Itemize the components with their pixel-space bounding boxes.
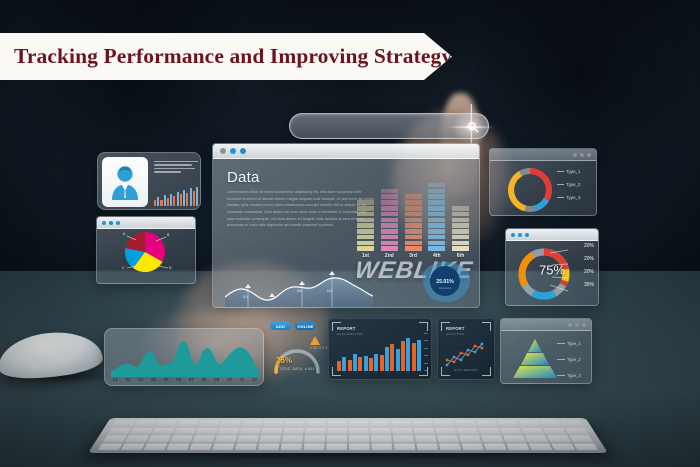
window-dot-2[interactable]: [575, 323, 579, 327]
pyramid-chart: [511, 337, 559, 379]
mini-bar: [196, 187, 198, 206]
legend-leader-line: [557, 184, 564, 185]
bar-4th: [428, 183, 445, 251]
wave-axis-label: 06: [176, 377, 181, 382]
wave-axis-label: 01: [113, 377, 118, 382]
legend-label: Type_2: [567, 357, 581, 362]
pie-label-c: C: [122, 266, 125, 270]
dark-bar: [390, 344, 394, 371]
wave-axis-label: 12: [252, 377, 257, 382]
legend-leader-line: [557, 343, 565, 344]
wave-axis-label: 08: [202, 377, 207, 382]
dark-bar: [337, 361, 341, 371]
body-paragraph: Lorem ipsum dolor sit amet consectetur a…: [227, 189, 375, 229]
add-pill-button[interactable]: ADD: [270, 322, 291, 330]
search-bar[interactable]: [289, 113, 489, 139]
dark-bar: [406, 338, 410, 371]
percent-label-0: 20%: [568, 243, 594, 249]
wave-chart-axis-labels: 010203040506070809101112: [113, 377, 257, 382]
dark-bar-chart-panel[interactable]: REPORT DATA ANALYSIS: [328, 318, 432, 380]
panel-titlebar: [501, 319, 591, 331]
segmented-bar-chart: [357, 185, 469, 251]
dark-bar: [374, 354, 378, 371]
dark-bar: [396, 349, 400, 371]
legend-leader-line: [557, 375, 565, 376]
main-panel-body: Data Lorem ipsum dolor sit amet consecte…: [213, 159, 479, 307]
mini-bar: [183, 190, 185, 206]
window-dot-2[interactable]: [580, 153, 584, 157]
window-dot-1[interactable]: [573, 153, 577, 157]
search-icon[interactable]: [467, 121, 479, 133]
wave-axis-label: 11: [240, 377, 245, 382]
mini-bar: [186, 193, 188, 206]
panel-titlebar: [490, 149, 596, 161]
left-pie-chart: A B C D: [114, 224, 178, 278]
gauge25-panel[interactable]: ADD ONLINE 1 00 0 0 2 25% TITLE, DATA, #…: [266, 320, 328, 382]
frame-bracket-tr: [482, 322, 491, 331]
bar-1st: [357, 200, 374, 251]
scatter-chart-panel[interactable]: REPORT ANALYTICS DATA REPORT: [437, 318, 495, 380]
percent-leader-lines: [550, 243, 570, 301]
panel-titlebar: [506, 229, 598, 241]
scatter-subtitle: ANALYTICS: [446, 332, 464, 336]
window-dot-2[interactable]: [518, 233, 522, 237]
mini-bar: [164, 195, 166, 206]
dark-bar: [353, 354, 357, 371]
percent-label-1: 20%: [568, 256, 594, 262]
window-dot-blue-1[interactable]: [230, 148, 236, 154]
title-banner: Tracking Performance and Improving Strat…: [0, 33, 452, 80]
wave-axis-label: 02: [126, 377, 131, 382]
dark-bar: [385, 347, 389, 371]
legend-leader-line: [557, 359, 565, 360]
pie-label-b: B: [167, 233, 170, 237]
panel-titlebar: [213, 144, 479, 159]
wave-axis-label: 09: [214, 377, 219, 382]
main-dashboard-panel[interactable]: Data Lorem ipsum dolor sit amet consecte…: [212, 143, 480, 308]
gauge-value: 25.01%: [436, 279, 454, 285]
legend-label: Type_1: [567, 341, 581, 346]
pie-label-d: D: [169, 266, 172, 270]
wave-axis-label: 04: [151, 377, 156, 382]
conversion-gauge: 25.01% conversion: [417, 259, 473, 305]
frame-bracket-tr: [419, 322, 428, 331]
user-avatar-icon: [108, 163, 142, 201]
mini-bar: [193, 191, 195, 206]
dark-bar: [417, 340, 421, 371]
dark-bar: [401, 341, 405, 371]
window-dot-blue-2[interactable]: [240, 148, 246, 154]
legend-item: Type_3: [557, 195, 591, 200]
computer-keyboard: document.write('<i></i>'.repeat(88));: [88, 418, 608, 453]
bar-chart-axis-ticks: [424, 333, 428, 371]
profile-mini-bars: [154, 186, 198, 206]
window-dot-blue-1[interactable]: [102, 221, 106, 225]
legend-item: Type_3: [557, 373, 587, 378]
legend-label: Type_3: [567, 373, 581, 378]
wave-axis-label: 03: [138, 377, 143, 382]
online-pill-button[interactable]: ONLINE: [295, 322, 316, 330]
area-value-2: $5k: [297, 289, 302, 293]
profile-text-lines: [154, 161, 198, 175]
scatter-title: REPORT: [446, 326, 465, 331]
warning-triangle-icon: [310, 336, 320, 345]
search-input[interactable]: [290, 114, 488, 138]
legend-item: Type_2: [557, 357, 587, 362]
legend-leader-line: [557, 197, 564, 198]
mini-bar: [190, 188, 192, 206]
wave-axis-label: 05: [164, 377, 169, 382]
window-dot-blue-2[interactable]: [109, 221, 113, 225]
legend-leader-line: [557, 171, 564, 172]
gauge25-value: 25%: [276, 356, 292, 365]
page-title: Data: [227, 169, 260, 186]
bar-6th: [452, 206, 469, 251]
percent-donut-panel[interactable]: 75% 20%20%20%35%: [505, 228, 599, 306]
dark-bar: [369, 358, 373, 371]
legend-item: Type_1: [557, 169, 591, 174]
bar-chart-title: REPORT: [337, 326, 356, 331]
keyboard-keys: document.write('<i></i>'.repeat(88));: [98, 421, 598, 450]
mini-bar: [167, 198, 169, 206]
legend-item: Type_2: [557, 182, 591, 187]
percent-labels: 20%20%20%35%: [568, 243, 594, 295]
dark-bar: [348, 360, 352, 371]
mini-bar: [157, 197, 159, 206]
window-dot-1[interactable]: [568, 323, 572, 327]
wave-axis-label: 07: [189, 377, 194, 382]
window-dot-3[interactable]: [525, 233, 529, 237]
pie-chart-panel[interactable]: A B C D: [96, 216, 196, 284]
dark-bar: [342, 357, 346, 371]
mini-bar: [177, 192, 179, 206]
scatter-trend-chart: [445, 339, 489, 369]
scatter-footer: DATA REPORT: [438, 368, 494, 372]
donut-legend: Type_1Type_2Type_3: [557, 169, 591, 208]
profile-panel[interactable]: [97, 152, 201, 210]
bar-2nd: [381, 189, 398, 251]
avatar: [102, 157, 148, 207]
pyramid-legend: Type_1Type_2Type_3: [557, 341, 587, 384]
dark-bar: [358, 357, 362, 371]
pie-label-a: A: [123, 232, 126, 236]
mini-bar: [180, 194, 182, 206]
dark-bar: [364, 356, 368, 371]
window-dot-grey[interactable]: [220, 148, 226, 154]
percent-label-2: 20%: [568, 269, 594, 275]
window-dot-3[interactable]: [582, 323, 586, 327]
legend-item: Type_1: [557, 341, 587, 346]
mini-bar: [173, 196, 175, 206]
legend-label: Type_1: [566, 169, 580, 174]
pyramid-chart-panel[interactable]: Type_1Type_2Type_3: [500, 318, 592, 384]
dark-bar: [380, 355, 384, 371]
wave-chart-panel[interactable]: 010203040506070809101112: [104, 328, 264, 386]
banner-title: Tracking Performance and Improving Strat…: [0, 44, 452, 69]
type-donut-panel[interactable]: Type_1Type_2Type_3: [489, 148, 597, 216]
mini-bar: [170, 194, 172, 206]
window-dot-3[interactable]: [587, 153, 591, 157]
type-donut-chart: [504, 165, 556, 215]
mini-bar: [154, 200, 156, 206]
gauge-caption: conversion: [439, 286, 452, 290]
area-value-1: $1k: [243, 295, 248, 299]
wave-chart: [111, 337, 259, 377]
gauge25-caption: TITLE, DATA, # 001: [266, 367, 328, 371]
area-value-3: $3k: [327, 289, 332, 293]
dark-bar: [412, 343, 416, 371]
dark-bar-chart: [337, 333, 421, 371]
percent-label-3: 35%: [568, 282, 594, 288]
wave-axis-label: 10: [227, 377, 232, 382]
legend-label: Type_2: [566, 182, 580, 187]
bar-3rd: [405, 194, 422, 251]
window-dot-1[interactable]: [511, 233, 515, 237]
mini-bar: [160, 200, 162, 206]
legend-label: Type_3: [566, 195, 580, 200]
